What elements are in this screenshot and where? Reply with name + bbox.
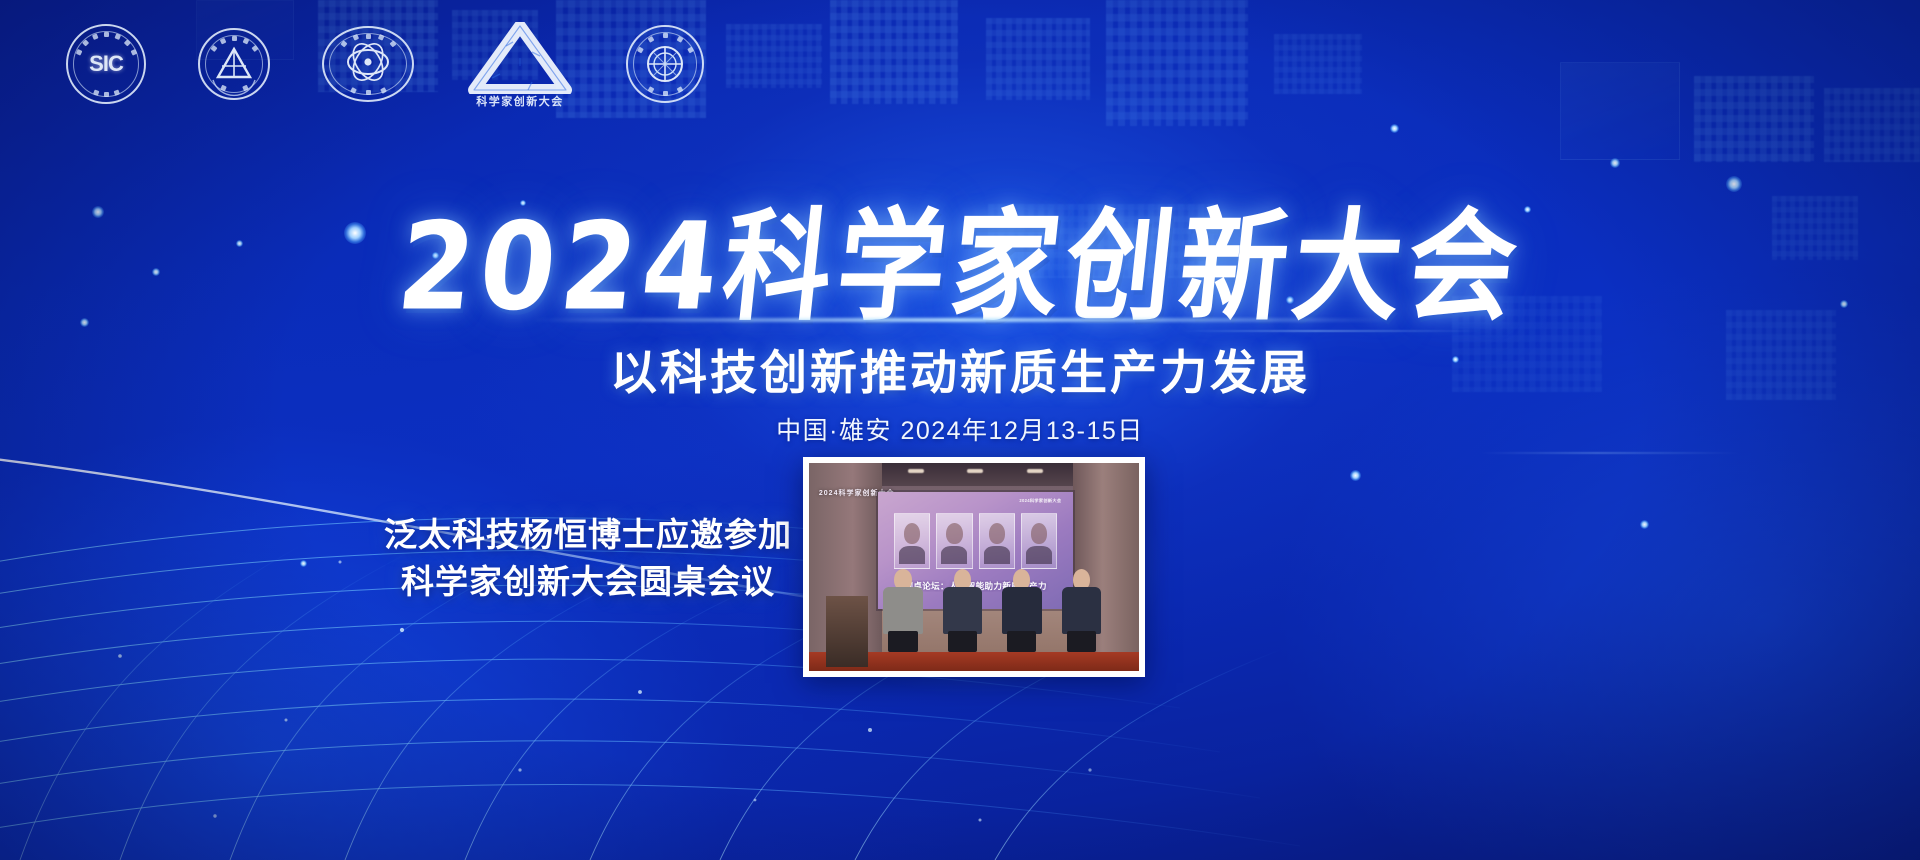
photo-panelist — [1000, 569, 1043, 652]
poster-canvas: SIC — [0, 0, 1920, 860]
photo-panelist-legs — [888, 631, 917, 653]
photo-speaker-portrait — [894, 513, 930, 569]
seal-globe-icon — [628, 27, 702, 101]
photo-panelist-legs — [1067, 631, 1096, 653]
photo-panelist-body — [1062, 587, 1101, 634]
photo-speaker-portrait — [979, 513, 1015, 569]
roundtable-conference-photo[interactable]: 2024科学家创新大会 2024科学家创新大会 圆桌论坛：人工智能助力新质生产力 — [803, 457, 1145, 677]
triangle-mark-caption: 科学家创新大会 — [476, 93, 564, 109]
triangle-mark-icon — [466, 22, 574, 94]
seal-triangle-icon — [200, 30, 268, 98]
photo-panelist — [1060, 569, 1103, 652]
triangle-seal-logo — [198, 28, 270, 100]
seal-abbreviation: SIC — [68, 26, 144, 102]
atom-seal-logo — [322, 26, 414, 102]
photo-panelist-legs — [1007, 631, 1036, 653]
triangle-mark-logo: 科学家创新大会 — [466, 22, 574, 106]
caption-line-1: 泛太科技杨恒博士应邀参加 — [378, 512, 798, 559]
photo-speaker-portrait — [936, 513, 972, 569]
sic-seal-logo: SIC — [66, 24, 146, 104]
globe-seal-logo — [626, 25, 704, 103]
photo-panelist-body — [883, 587, 922, 634]
seal-atom-icon — [324, 28, 412, 100]
photo-speaker-portraits — [894, 513, 1058, 567]
photo-ceiling-light — [1027, 469, 1043, 473]
photo-panelist-legs — [948, 631, 977, 653]
photo-panelist — [882, 569, 925, 652]
photo-panelist-body — [943, 587, 982, 634]
page-title: 2024科学家创新大会 — [392, 208, 1527, 329]
title-underglow — [530, 318, 1390, 322]
photo-screen-header: 2024科学家创新大会 — [1019, 498, 1061, 504]
photo-ceiling-light — [967, 469, 983, 473]
photo-podium — [826, 596, 869, 667]
dateline: 中国·雄安 2024年12月13-15日 — [0, 411, 1920, 447]
subtitle: 以科技创新推动新质生产力发展 — [0, 334, 1920, 403]
photo-panelist-body — [1002, 587, 1041, 634]
event-caption: 泛太科技杨恒博士应邀参加 科学家创新大会圆桌会议 — [378, 512, 798, 606]
sponsor-logo-row: SIC — [66, 22, 704, 106]
caption-line-2: 科学家创新大会圆桌会议 — [378, 559, 798, 606]
main-title-wrap: 2024科学家创新大会 — [0, 214, 1920, 322]
photo-ceiling-light — [908, 469, 924, 473]
photo-content: 2024科学家创新大会 2024科学家创新大会 圆桌论坛：人工智能助力新质生产力 — [809, 463, 1139, 671]
photo-panelist — [941, 569, 984, 652]
photo-speaker-portrait — [1021, 513, 1057, 569]
